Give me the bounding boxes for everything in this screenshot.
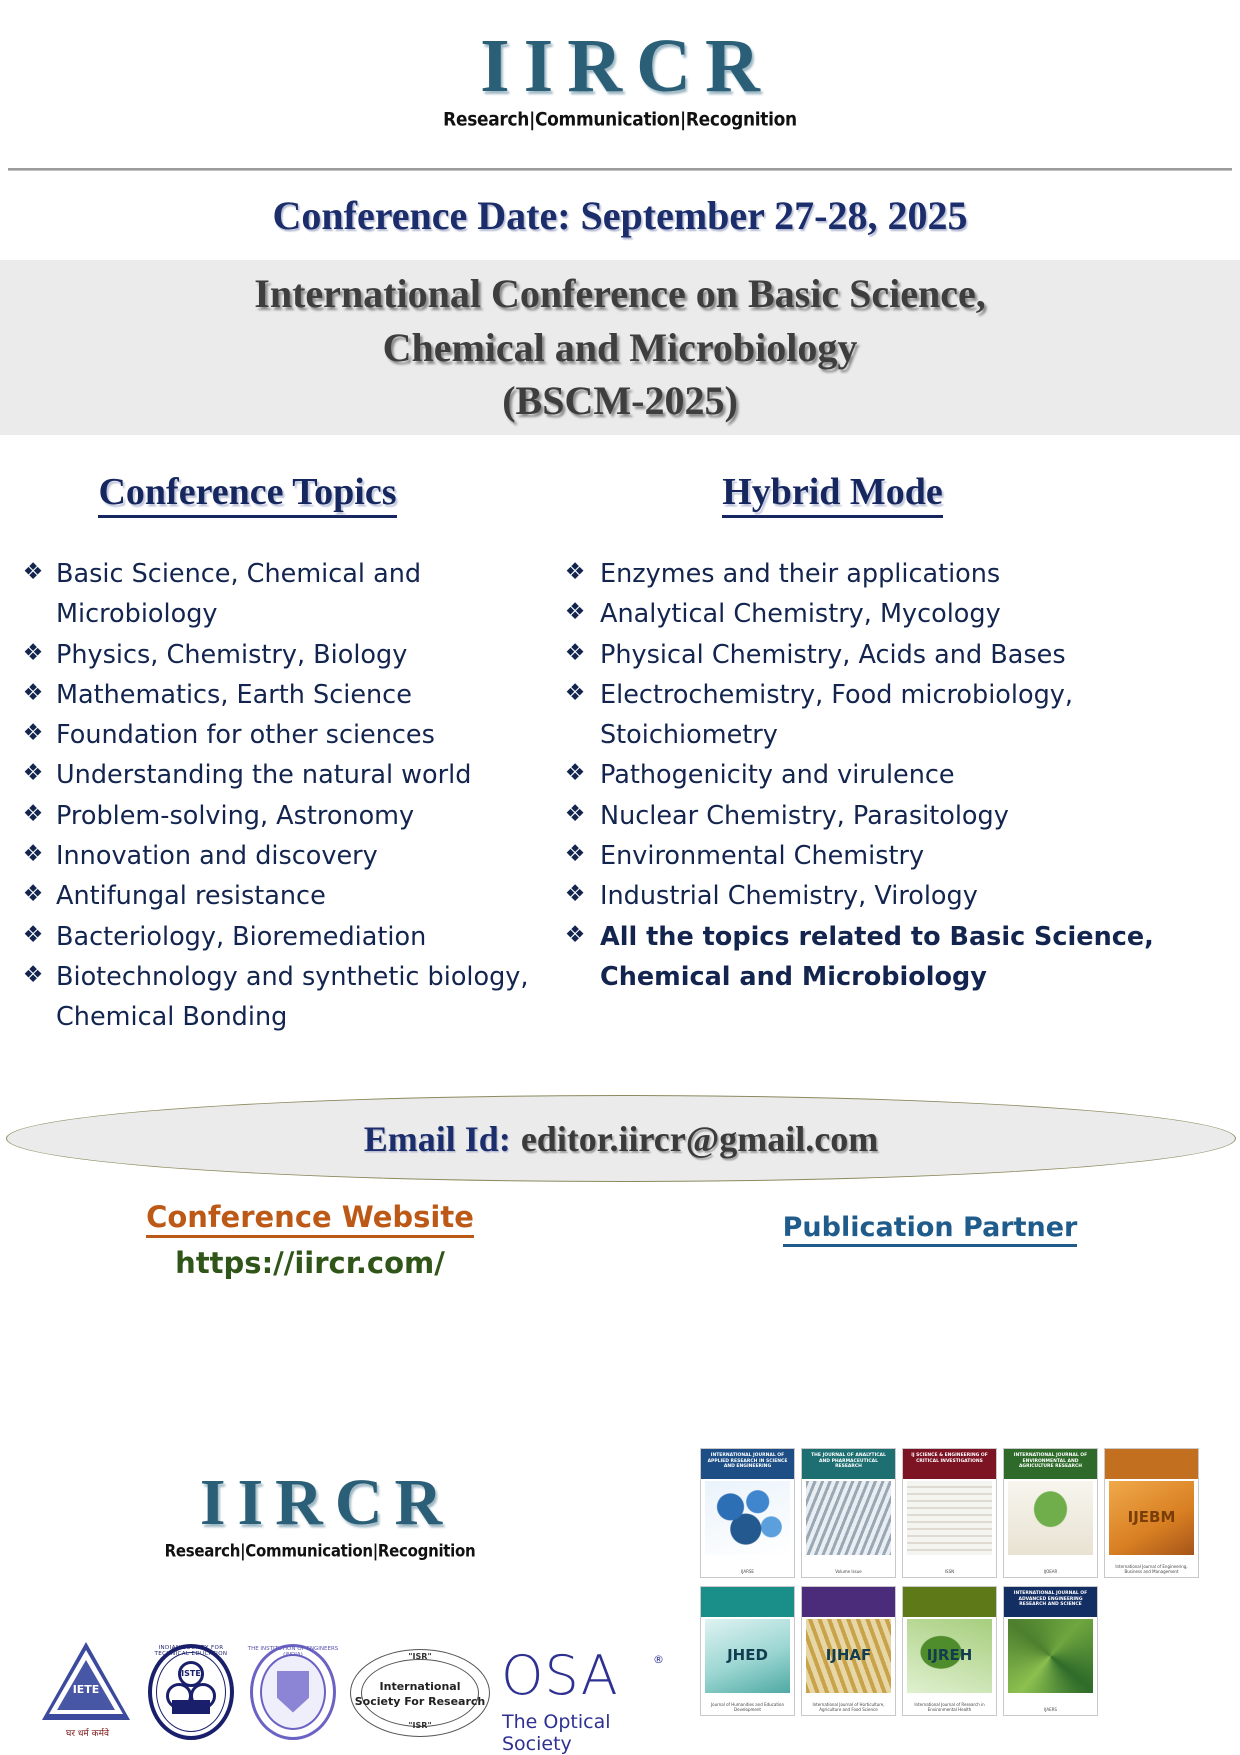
- journal-cover-title: INTERNATIONAL JOURNAL OF ENVIRONMENTAL A…: [1007, 1453, 1094, 1470]
- header-logo: IIRCR Research|Communication|Recognition: [0, 0, 1240, 150]
- diamond-bullet-icon: ❖: [10, 796, 56, 832]
- topic-list-item: ❖Enzymes and their applications: [550, 554, 1240, 594]
- iete-label: IETE: [59, 1683, 113, 1696]
- iete-logo: THE INSTITUTION OF ELECTRONICS AND TELEC…: [40, 1640, 135, 1745]
- topic-list-item-label: Enzymes and their applications: [600, 554, 1240, 594]
- diamond-bullet-icon: ❖: [550, 876, 600, 912]
- diamond-bullet-icon: ❖: [550, 554, 600, 590]
- osa-subtitle: The Optical Society: [502, 1711, 666, 1755]
- topic-list-item: ❖Nuclear Chemistry, Parasitology: [550, 796, 1240, 836]
- footer-logo: IIRCR Research|Communication|Recognition: [110, 1470, 530, 1560]
- journal-cover-band: [802, 1587, 895, 1617]
- email-callout: Email Id: editor.iircr@gmail.com: [6, 1095, 1236, 1182]
- topic-list-item-label: Biotechnology and synthetic biology, Che…: [56, 957, 545, 1038]
- topic-list-item: ❖Problem-solving, Astronomy: [10, 796, 545, 836]
- diamond-bullet-icon: ❖: [550, 917, 600, 953]
- topic-list-item: ❖Environmental Chemistry: [550, 836, 1240, 876]
- footer-brand-tagline: Research|Communication|Recognition: [110, 1541, 530, 1561]
- journal-cover: International Journal of Research in Env…: [902, 1586, 997, 1716]
- topic-list-item-label: All the topics related to Basic Science,…: [600, 917, 1240, 998]
- diamond-bullet-icon: ❖: [10, 635, 56, 671]
- brand-tagline: Research|Communication|Recognition: [443, 109, 797, 131]
- journal-cover-footer: IJARSE: [704, 1570, 791, 1575]
- hybrid-mode-list: ❖Enzymes and their applications❖Analytic…: [545, 554, 1240, 997]
- conference-website-url[interactable]: https://iircr.com/: [0, 1246, 620, 1280]
- journal-cover-title: IJ SCIENCE & ENGINEERING OF CRITICAL INV…: [906, 1453, 993, 1464]
- diamond-bullet-icon: ❖: [10, 755, 56, 791]
- iste-logo: INDIAN SOCIETY FOR TECHNICAL EDUCATION I…: [145, 1643, 237, 1743]
- iete-hindi-motto: घर धर्म कर्मवे: [40, 1726, 135, 1739]
- journal-cover-artwork: [1008, 1619, 1093, 1693]
- journal-cover-artwork: [907, 1481, 992, 1555]
- isr-logo: "ISR" International Society For Research…: [349, 1643, 491, 1743]
- diamond-bullet-icon: ❖: [550, 755, 600, 791]
- hybrid-mode-heading: Hybrid Mode: [545, 470, 1240, 514]
- conference-title-line-2: Chemical and Microbiology: [383, 321, 858, 375]
- journal-cover-footer: ISSN: [906, 1570, 993, 1575]
- topic-list-item: ❖Mathematics, Earth Science: [10, 675, 545, 715]
- isr-name-line-2: Society For Research: [349, 1695, 491, 1708]
- publication-partner-heading: Publication Partner: [783, 1212, 1078, 1247]
- journal-cover: INTERNATIONAL JOURNAL OF ADVANCED ENGINE…: [1003, 1586, 1098, 1716]
- header-divider: [8, 168, 1232, 171]
- topic-list-item: ❖Antifungal resistance: [10, 876, 545, 916]
- journal-cover: International Journal of Engineering, Bu…: [1104, 1448, 1199, 1578]
- conference-title-line-3: (BSCM-2025): [502, 374, 738, 428]
- topic-list-item: ❖Pathogenicity and virulence: [550, 755, 1240, 795]
- topic-list-item: ❖All the topics related to Basic Science…: [550, 917, 1240, 998]
- society-logos-strip: THE INSTITUTION OF ELECTRONICS AND TELEC…: [40, 1635, 640, 1750]
- diamond-bullet-icon: ❖: [10, 836, 56, 872]
- diamond-bullet-icon: ❖: [550, 635, 600, 671]
- journal-cover-artwork-fill: [907, 1481, 992, 1555]
- diamond-bullet-icon: ❖: [10, 675, 56, 711]
- journal-covers-row: Journal of Humanities and Education Deve…: [700, 1586, 1210, 1716]
- journal-cover-footer: International Journal of Engineering, Bu…: [1108, 1565, 1195, 1575]
- journal-cover: International Journal of Horticulture, A…: [801, 1586, 896, 1716]
- topic-list-item-label: Physics, Chemistry, Biology: [56, 635, 545, 675]
- diamond-bullet-icon: ❖: [550, 836, 600, 872]
- isr-bottom-text: "ISR": [349, 1721, 491, 1730]
- isr-ellipse-inner: [361, 1659, 479, 1727]
- topic-list-item: ❖Analytical Chemistry, Mycology: [550, 594, 1240, 634]
- topic-list-item-label: Environmental Chemistry: [600, 836, 1240, 876]
- diamond-bullet-icon: ❖: [550, 675, 600, 711]
- topic-list-item: ❖Innovation and discovery: [10, 836, 545, 876]
- topic-list-item-label: Nuclear Chemistry, Parasitology: [600, 796, 1240, 836]
- journal-cover-artwork: [806, 1481, 891, 1555]
- osa-registered-mark: ®: [653, 1653, 664, 1666]
- journal-cover-title: INTERNATIONAL JOURNAL OF ADVANCED ENGINE…: [1007, 1591, 1094, 1608]
- topic-list-item: ❖Physical Chemistry, Acids and Bases: [550, 635, 1240, 675]
- topic-list-item: ❖Electrochemistry, Food microbiology, St…: [550, 675, 1240, 756]
- journal-covers-grid: INTERNATIONAL JOURNAL OF APPLIED RESEARC…: [700, 1448, 1210, 1716]
- journal-cover-abbrev: IJREH: [903, 1646, 996, 1664]
- topic-list-item-label: Basic Science, Chemical and Microbiology: [56, 554, 545, 635]
- journal-cover: INTERNATIONAL JOURNAL OF ENVIRONMENTAL A…: [1003, 1448, 1098, 1578]
- diamond-bullet-icon: ❖: [550, 594, 600, 630]
- journal-cover-footer: IJOEAR: [1007, 1570, 1094, 1575]
- conference-website-heading: Conference Website: [146, 1200, 474, 1238]
- journal-cover-footer: Volume Issue: [805, 1570, 892, 1575]
- ie-india-logo: THE INSTITUTION OF ENGINEERS (INDIA): [247, 1643, 339, 1743]
- topic-list-item: ❖Bacteriology, Bioremediation: [10, 917, 545, 957]
- journal-cover-title: INTERNATIONAL JOURNAL OF APPLIED RESEARC…: [704, 1453, 791, 1470]
- hybrid-mode-heading-text: Hybrid Mode: [722, 471, 943, 518]
- diamond-bullet-icon: ❖: [550, 796, 600, 832]
- journal-cover-artwork-fill: [1008, 1619, 1093, 1693]
- topic-list-item: ❖Understanding the natural world: [10, 755, 545, 795]
- journal-cover-title: THE JOURNAL OF ANALYTICAL AND PHARMACEUT…: [805, 1453, 892, 1470]
- journal-cover-footer: IJAERS: [1007, 1708, 1094, 1713]
- journal-cover-artwork-fill: [705, 1481, 790, 1555]
- diamond-bullet-icon: ❖: [10, 917, 56, 953]
- journal-cover-band: [701, 1587, 794, 1617]
- diamond-bullet-icon: ❖: [10, 957, 56, 993]
- topic-list-item: ❖Foundation for other sciences: [10, 715, 545, 755]
- topic-list-item-label: Problem-solving, Astronomy: [56, 796, 545, 836]
- journal-cover: IJ SCIENCE & ENGINEERING OF CRITICAL INV…: [902, 1448, 997, 1578]
- topic-list-item-label: Pathogenicity and virulence: [600, 755, 1240, 795]
- journal-cover-artwork: [1008, 1481, 1093, 1555]
- journal-cover: INTERNATIONAL JOURNAL OF APPLIED RESEARC…: [700, 1448, 795, 1578]
- journal-cover-abbrev: JHED: [701, 1646, 794, 1664]
- journal-cover-footer: Journal of Humanities and Education Deve…: [704, 1703, 791, 1713]
- journal-cover-artwork: [705, 1481, 790, 1555]
- hybrid-mode-column: Hybrid Mode ❖Enzymes and their applicati…: [545, 470, 1240, 1037]
- conference-topics-heading: Conference Topics: [10, 470, 545, 514]
- topic-list-item-label: Understanding the natural world: [56, 755, 545, 795]
- journal-cover: Journal of Humanities and Education Deve…: [700, 1586, 795, 1716]
- topic-list-item-label: Antifungal resistance: [56, 876, 545, 916]
- topic-list-item-label: Foundation for other sciences: [56, 715, 545, 755]
- iste-base-bar: [172, 1700, 210, 1714]
- topic-list-item-label: Innovation and discovery: [56, 836, 545, 876]
- topic-list-item: ❖Physics, Chemistry, Biology: [10, 635, 545, 675]
- topic-list-item: ❖Industrial Chemistry, Virology: [550, 876, 1240, 916]
- osa-logo: OSA ® The Optical Society: [501, 1643, 666, 1743]
- isr-top-text: "ISR": [349, 1652, 491, 1661]
- journal-cover-footer: International Journal of Research in Env…: [906, 1703, 993, 1713]
- journal-cover-artwork-fill: [1008, 1481, 1093, 1555]
- ie-micro-text: THE INSTITUTION OF ENGINEERS (INDIA): [247, 1646, 339, 1658]
- topic-list-item-label: Industrial Chemistry, Virology: [600, 876, 1240, 916]
- journal-covers-row: INTERNATIONAL JOURNAL OF APPLIED RESEARC…: [700, 1448, 1210, 1578]
- footer-brand-wordmark: IIRCR: [110, 1470, 530, 1536]
- journal-cover-band: [1105, 1449, 1198, 1479]
- conference-title-line-1: International Conference on Basic Scienc…: [254, 267, 985, 321]
- journal-cover-abbrev: IJEBM: [1105, 1508, 1198, 1526]
- journal-cover-artwork-fill: [806, 1481, 891, 1555]
- topic-list-item: ❖Basic Science, Chemical and Microbiolog…: [10, 554, 545, 635]
- topic-list-item-label: Physical Chemistry, Acids and Bases: [600, 635, 1240, 675]
- diamond-bullet-icon: ❖: [10, 554, 56, 590]
- conference-date: Conference Date: September 27-28, 2025: [0, 192, 1240, 239]
- email-address[interactable]: editor.iircr@gmail.com: [521, 1118, 878, 1160]
- journal-cover: THE JOURNAL OF ANALYTICAL AND PHARMACEUT…: [801, 1448, 896, 1578]
- publication-partner-block: Publication Partner: [620, 1200, 1240, 1280]
- email-label: Email Id:: [364, 1118, 511, 1160]
- topic-list-item-label: Bacteriology, Bioremediation: [56, 917, 545, 957]
- iste-micro-text: INDIAN SOCIETY FOR TECHNICAL EDUCATION: [145, 1645, 237, 1657]
- diamond-bullet-icon: ❖: [10, 715, 56, 751]
- journal-cover-band: [903, 1587, 996, 1617]
- diamond-bullet-icon: ❖: [10, 876, 56, 912]
- journal-cover-abbrev: IJHAF: [802, 1646, 895, 1664]
- conference-topics-heading-text: Conference Topics: [98, 471, 396, 518]
- brand-wordmark: IIRCR: [466, 28, 774, 104]
- osa-wordmark: OSA: [501, 1649, 666, 1703]
- links-row: Conference Website https://iircr.com/ Pu…: [0, 1200, 1240, 1280]
- topic-list-item: ❖Biotechnology and synthetic biology, Ch…: [10, 957, 545, 1038]
- topics-section: Conference Topics ❖Basic Science, Chemic…: [0, 470, 1240, 1037]
- isr-name-line-1: International: [349, 1680, 491, 1693]
- conference-topics-list: ❖Basic Science, Chemical and Microbiolog…: [10, 554, 545, 1037]
- journal-cover-footer: International Journal of Horticulture, A…: [805, 1703, 892, 1713]
- topic-list-item-label: Analytical Chemistry, Mycology: [600, 594, 1240, 634]
- conference-website-block: Conference Website https://iircr.com/: [0, 1200, 620, 1280]
- conference-title-band: International Conference on Basic Scienc…: [0, 260, 1240, 435]
- topic-list-item-label: Electrochemistry, Food microbiology, Sto…: [600, 675, 1240, 756]
- conference-topics-column: Conference Topics ❖Basic Science, Chemic…: [0, 470, 545, 1037]
- topic-list-item-label: Mathematics, Earth Science: [56, 675, 545, 715]
